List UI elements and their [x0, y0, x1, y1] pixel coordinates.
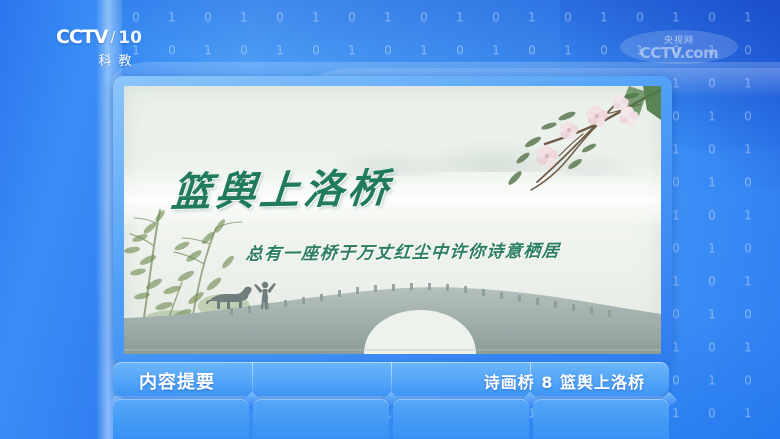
channel-logo-cctv-text: CCTV — [56, 26, 108, 48]
program-subtitle: 总有一座桥于万丈红尘中许你诗意栖居 — [245, 236, 562, 264]
horse-silhouette-icon — [206, 287, 252, 309]
bar-segment-divider — [252, 362, 253, 396]
program-artwork-panel: 篮舆上洛桥 总有一座桥于万丈红尘中许你诗意栖居 — [124, 86, 661, 354]
channel-logo-subtitle: 科教 — [56, 50, 174, 69]
channel-logo: CCTV / 10 科教 — [56, 26, 174, 69]
broadcast-screen: 0101010101010101010101010101010101010101… — [0, 0, 780, 439]
stone-arch-bridge-icon — [124, 270, 661, 354]
cctv-com-watermark: 央视网 CCTV.com — [620, 30, 738, 64]
watermark-domain-text: CCTV.com — [640, 44, 718, 62]
channel-logo-separator: / — [111, 28, 116, 48]
lower-segment — [253, 399, 389, 439]
content-summary-label: 内容提要 — [139, 368, 215, 394]
bar-segment-divider — [391, 362, 392, 396]
channel-logo-main: CCTV / 10 — [56, 26, 174, 48]
lower-segment — [113, 399, 249, 439]
lower-segment — [393, 399, 529, 439]
channel-logo-number: 10 — [118, 28, 142, 48]
blossom-branch-icon — [471, 86, 661, 206]
program-title: 篮舆上洛桥 — [169, 156, 394, 219]
lower-segment-row — [113, 399, 669, 439]
episode-title-label: 诗画桥 8 篮舆上洛桥 — [484, 369, 645, 393]
lower-segment — [533, 399, 669, 439]
